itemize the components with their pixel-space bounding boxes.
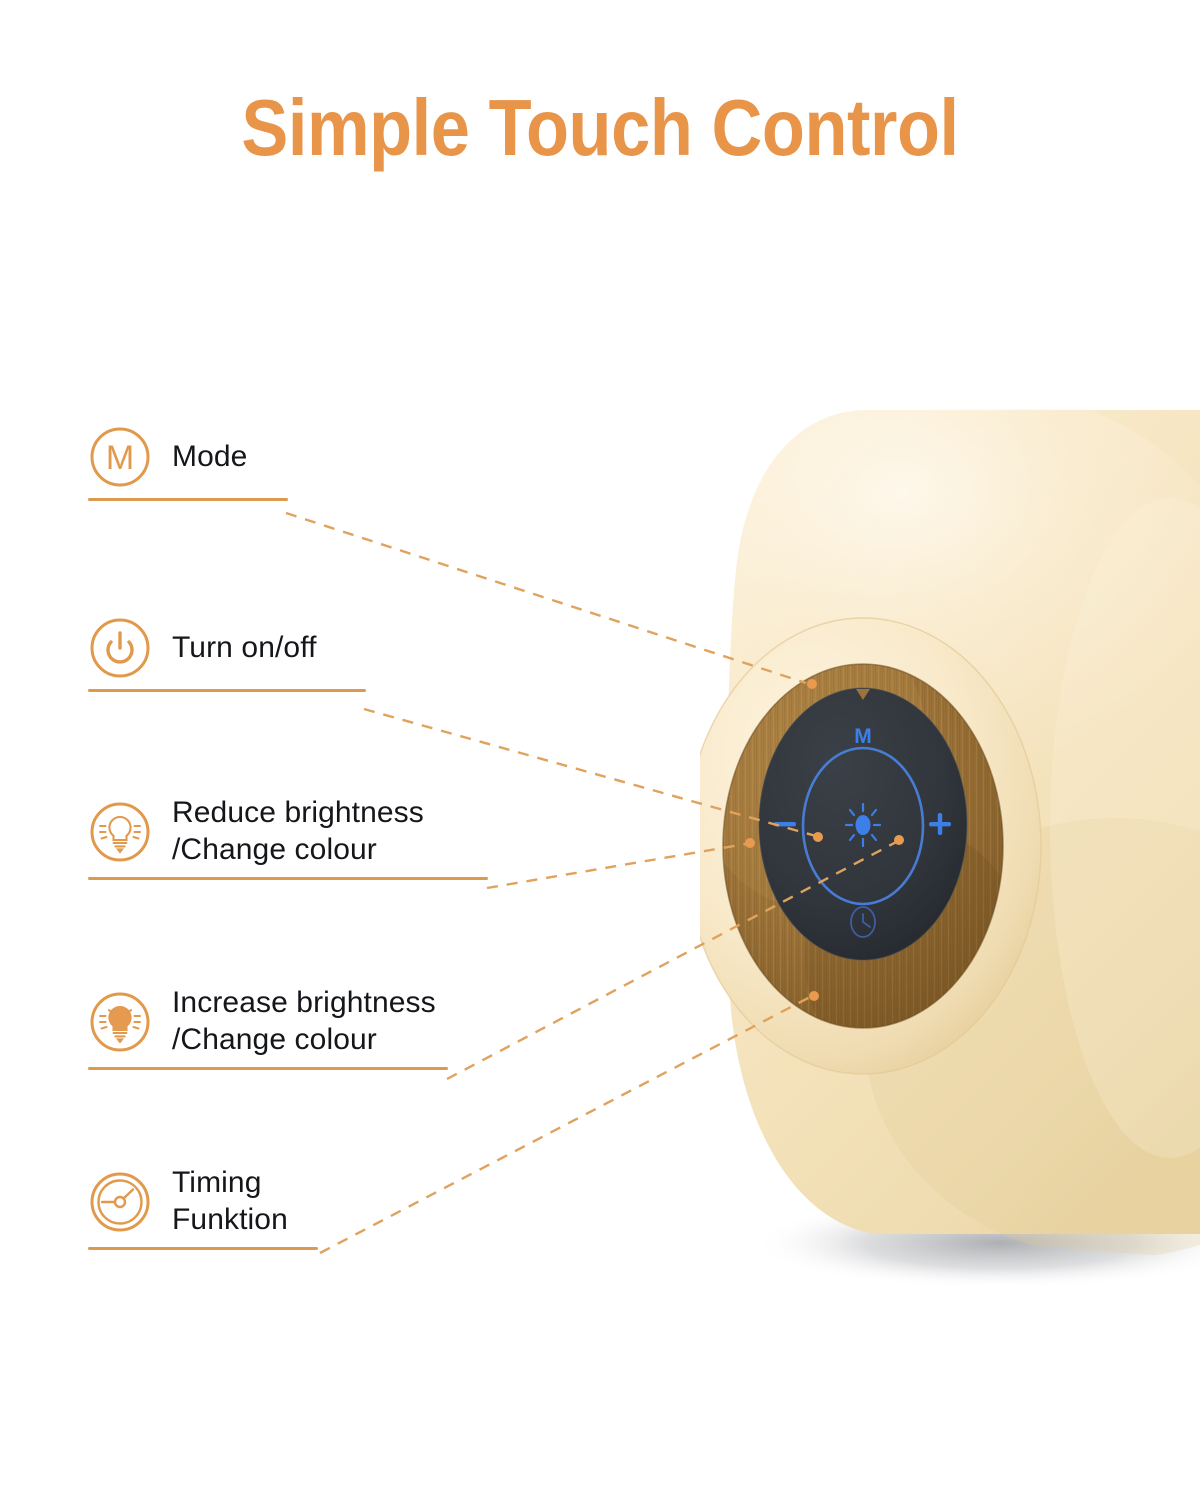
callout-mode-label: Mode — [172, 439, 247, 476]
bulb-outline-icon — [88, 800, 152, 864]
panel-decrease-key — [774, 822, 796, 826]
callout-timing[interactable]: Timing Funktion — [88, 1165, 318, 1250]
callout-power-underline — [88, 689, 366, 692]
page-title: Simple Touch Control — [72, 86, 1128, 170]
panel-mode-key: M — [854, 725, 872, 748]
callout-mode[interactable]: M Mode — [88, 425, 288, 501]
product-image: M — [700, 398, 1200, 1308]
callout-increase-brightness-label: Increase brightness /Change colour — [172, 985, 436, 1058]
bulb-filled-icon — [88, 990, 152, 1054]
callout-increase-brightness-underline — [88, 1067, 448, 1070]
clock-icon — [88, 1170, 152, 1234]
callout-power-label: Turn on/off — [172, 630, 317, 667]
panel-brightness-key — [846, 804, 880, 846]
power-icon — [88, 616, 152, 680]
callout-reduce-brightness-underline — [88, 877, 488, 880]
mode-m-icon: M — [88, 425, 152, 489]
svg-text:M: M — [106, 439, 134, 477]
callout-timing-label: Timing Funktion — [172, 1165, 288, 1238]
callout-power[interactable]: Turn on/off — [88, 616, 366, 692]
callout-timing-underline — [88, 1247, 318, 1250]
callout-increase-brightness[interactable]: Increase brightness /Change colour — [88, 985, 448, 1070]
infographic-page: Simple Touch Control — [0, 0, 1200, 1500]
callout-reduce-brightness-label: Reduce brightness /Change colour — [172, 795, 424, 868]
callout-mode-underline — [88, 498, 288, 501]
callout-reduce-brightness[interactable]: Reduce brightness /Change colour — [88, 795, 488, 880]
